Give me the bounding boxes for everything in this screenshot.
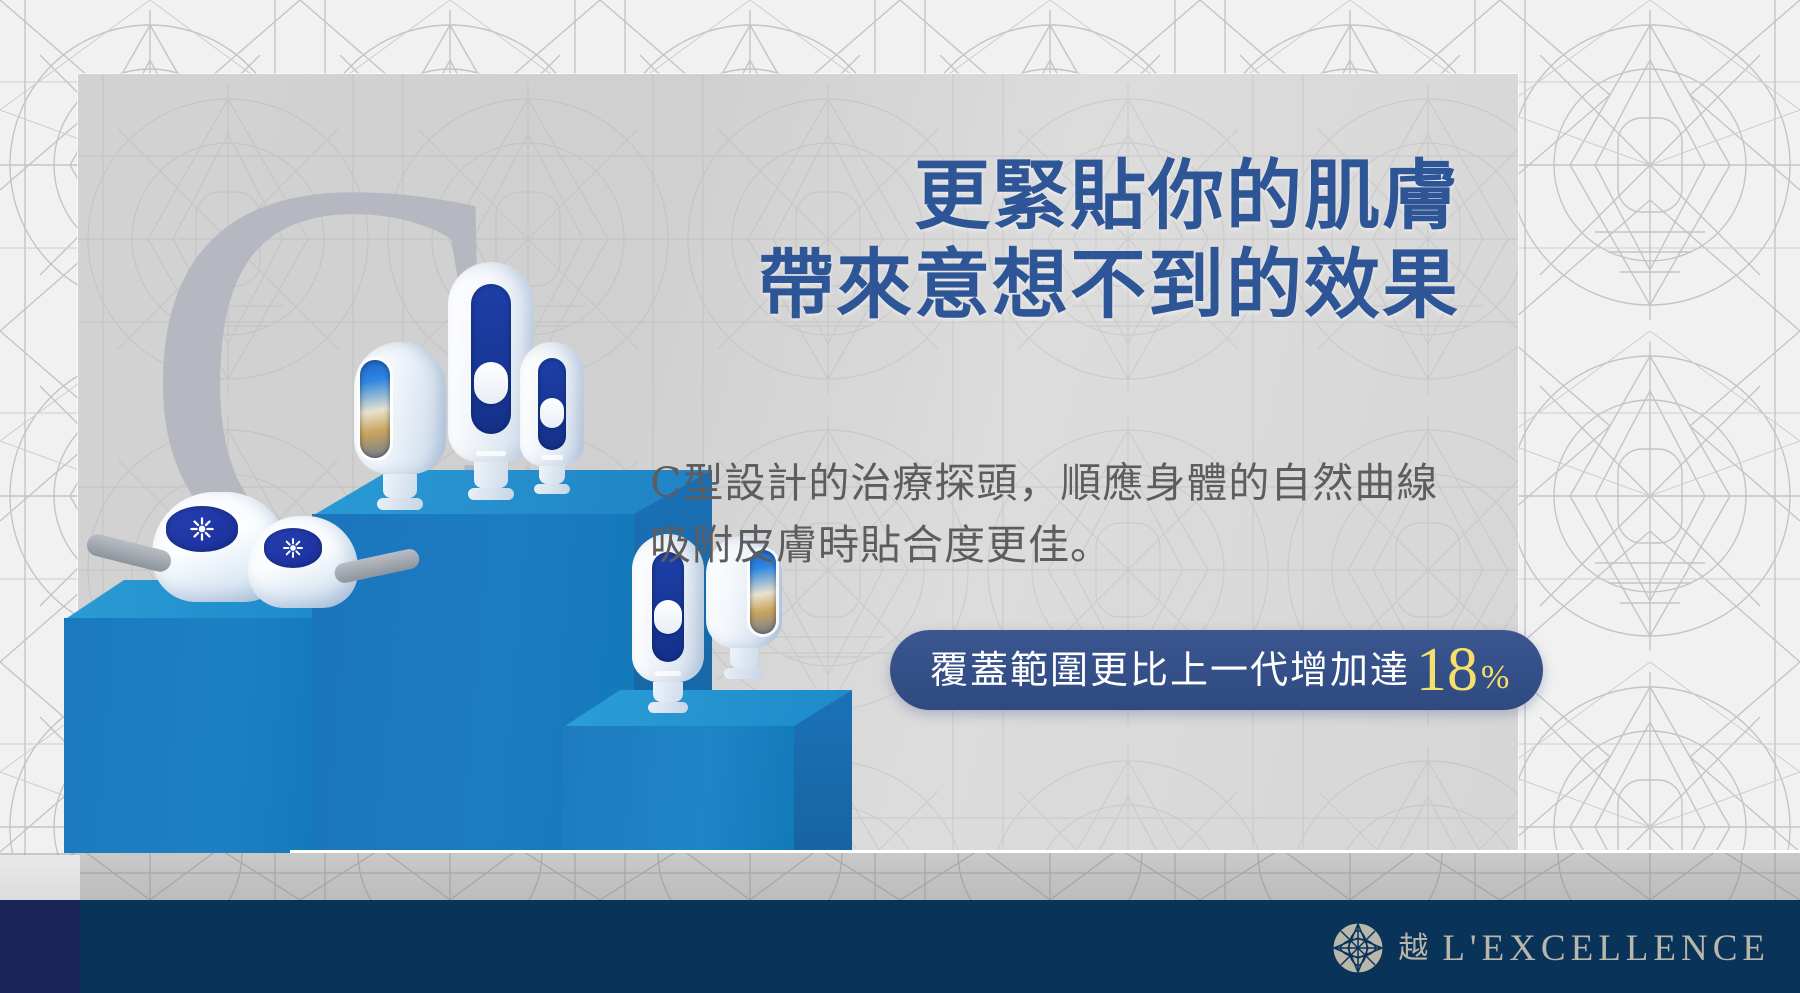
handpiece-tall-right [520, 342, 584, 494]
handpiece-c-applicator-back [354, 342, 446, 510]
coverage-badge-number: 18 [1416, 639, 1478, 701]
footer-divider [290, 850, 1800, 853]
headline-line-1: 更緊貼你的肌膚 [640, 152, 1460, 241]
subcopy-line-1: C型設計的治療探頭，順應身體的自然曲線 [650, 452, 1450, 514]
subcopy-line-2: 吸附皮膚時貼合度更佳。 [650, 514, 1450, 576]
footer-left-strip [0, 855, 80, 901]
coverage-badge-unit: % [1481, 661, 1509, 695]
compass-star-emblem-icon [1332, 922, 1384, 974]
subcopy: C型設計的治療探頭，順應身體的自然曲線 吸附皮膚時貼合度更佳。 [650, 452, 1450, 577]
footer-band [0, 853, 1800, 900]
applicator-lens [360, 360, 390, 458]
footer-left-navy-block [0, 900, 80, 993]
brand-logo[interactable]: 越 L'EXCELLENCE [1332, 922, 1770, 974]
coverage-badge: 覆蓋範圍更比上一代增加達 18 % [890, 630, 1543, 710]
headline-line-2: 帶來意想不到的效果 [640, 241, 1460, 330]
promo-banner: C [0, 0, 1800, 993]
headline: 更緊貼你的肌膚 帶來意想不到的效果 [640, 152, 1460, 330]
device-badge-a [166, 506, 238, 552]
handpiece-round-small [248, 516, 358, 608]
device-badge-b [264, 528, 322, 568]
brand-name-zh: 越 [1398, 934, 1428, 964]
coverage-badge-text: 覆蓋範圍更比上一代增加達 [930, 651, 1410, 689]
brand-name-latin: L'EXCELLENCE [1442, 930, 1770, 967]
